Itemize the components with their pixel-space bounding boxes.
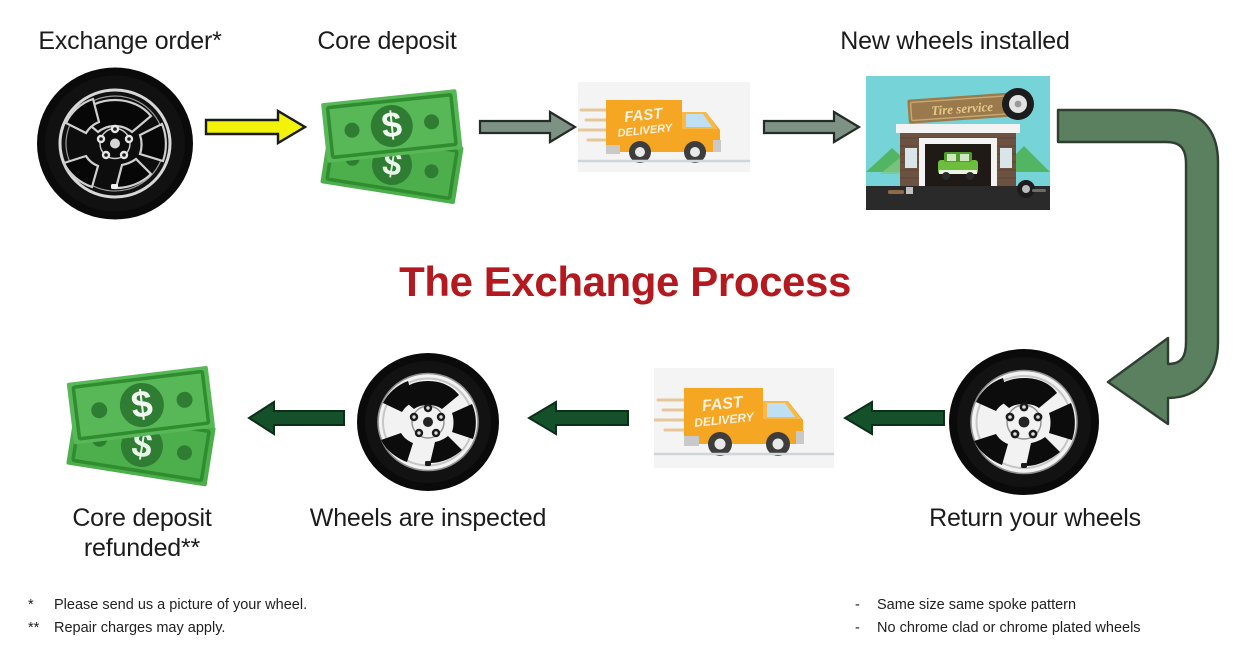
arrow-truck-to-inspection [526,400,630,436]
page-title: The Exchange Process [225,258,1025,306]
delivery-truck-icon: FAST DELIVERY [578,82,750,172]
label-core-deposit: Core deposit [272,27,502,57]
tire-service-shop-icon: Tire service [866,76,1050,210]
arrow-deposit-to-truck [478,108,578,146]
arrow-return-to-truck [842,400,946,436]
silver-wheel-icon-return [948,348,1100,496]
footnote-marker: * [28,594,54,617]
arrow-inspection-to-refund [246,400,346,436]
requirement-marker: - [855,617,877,640]
footnotes-left: * Please send us a picture of your wheel… [28,594,448,641]
label-new-wheels-installed: New wheels installed [795,27,1115,57]
exchange-process-diagram: Exchange order* Core deposit New wheels … [0,0,1250,666]
label-core-deposit-refunded: Core deposit refunded** [22,504,262,563]
requirement-item: - Same size same spoke pattern [855,594,1250,617]
footnote-item: ** Repair charges may apply. [28,617,448,640]
label-return-your-wheels: Return your wheels [890,504,1180,534]
requirement-text: Same size same spoke pattern [877,594,1076,617]
silver-wheel-icon-inspected [356,352,500,492]
svg-text:$: $ [380,103,404,146]
cash-money-icon-refund: $ $ [56,348,228,490]
arrow-truck-to-shop [762,108,862,146]
cash-money-icon: $ $ [312,70,472,205]
footnote-text: Repair charges may apply. [54,617,225,640]
footnote-text: Please send us a picture of your wheel. [54,594,307,617]
footnote-marker: ** [28,617,54,640]
requirement-item: - No chrome clad or chrome plated wheels [855,617,1250,640]
label-wheels-are-inspected: Wheels are inspected [288,504,568,534]
label-exchange-order: Exchange order* [10,27,250,57]
requirement-marker: - [855,594,877,617]
footnotes-right: - Same size same spoke pattern - No chro… [855,594,1250,641]
footnote-item: * Please send us a picture of your wheel… [28,594,448,617]
requirement-text: No chrome clad or chrome plated wheels [877,617,1141,640]
delivery-truck-icon-return: FAST DELIVERY [654,368,834,468]
black-wheel-icon [36,66,194,221]
arrow-order-to-deposit [204,108,308,146]
